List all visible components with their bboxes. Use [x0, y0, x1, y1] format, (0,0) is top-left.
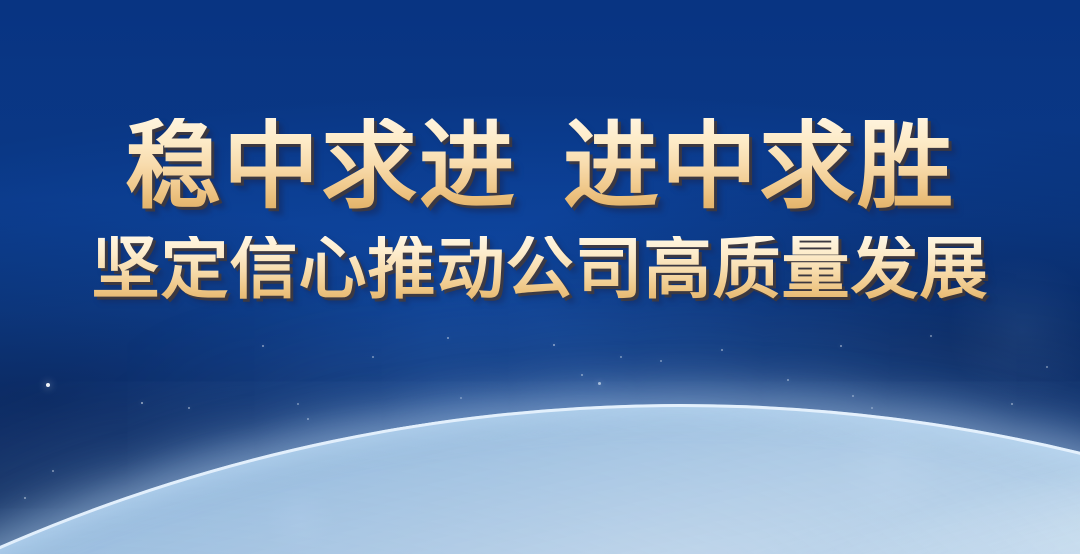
banner-subheadline: 坚定信心推动公司高质量发展 [0, 236, 1080, 304]
banner-headline: 稳中求进进中求胜 [0, 118, 1080, 214]
headline-phrase-2: 进中求胜 [563, 110, 955, 222]
promo-banner: 稳中求进进中求胜 坚定信心推动公司高质量发展 [0, 0, 1080, 554]
headline-phrase-1: 稳中求进 [125, 110, 517, 222]
banner-text-block: 稳中求进进中求胜 坚定信心推动公司高质量发展 [0, 118, 1080, 304]
